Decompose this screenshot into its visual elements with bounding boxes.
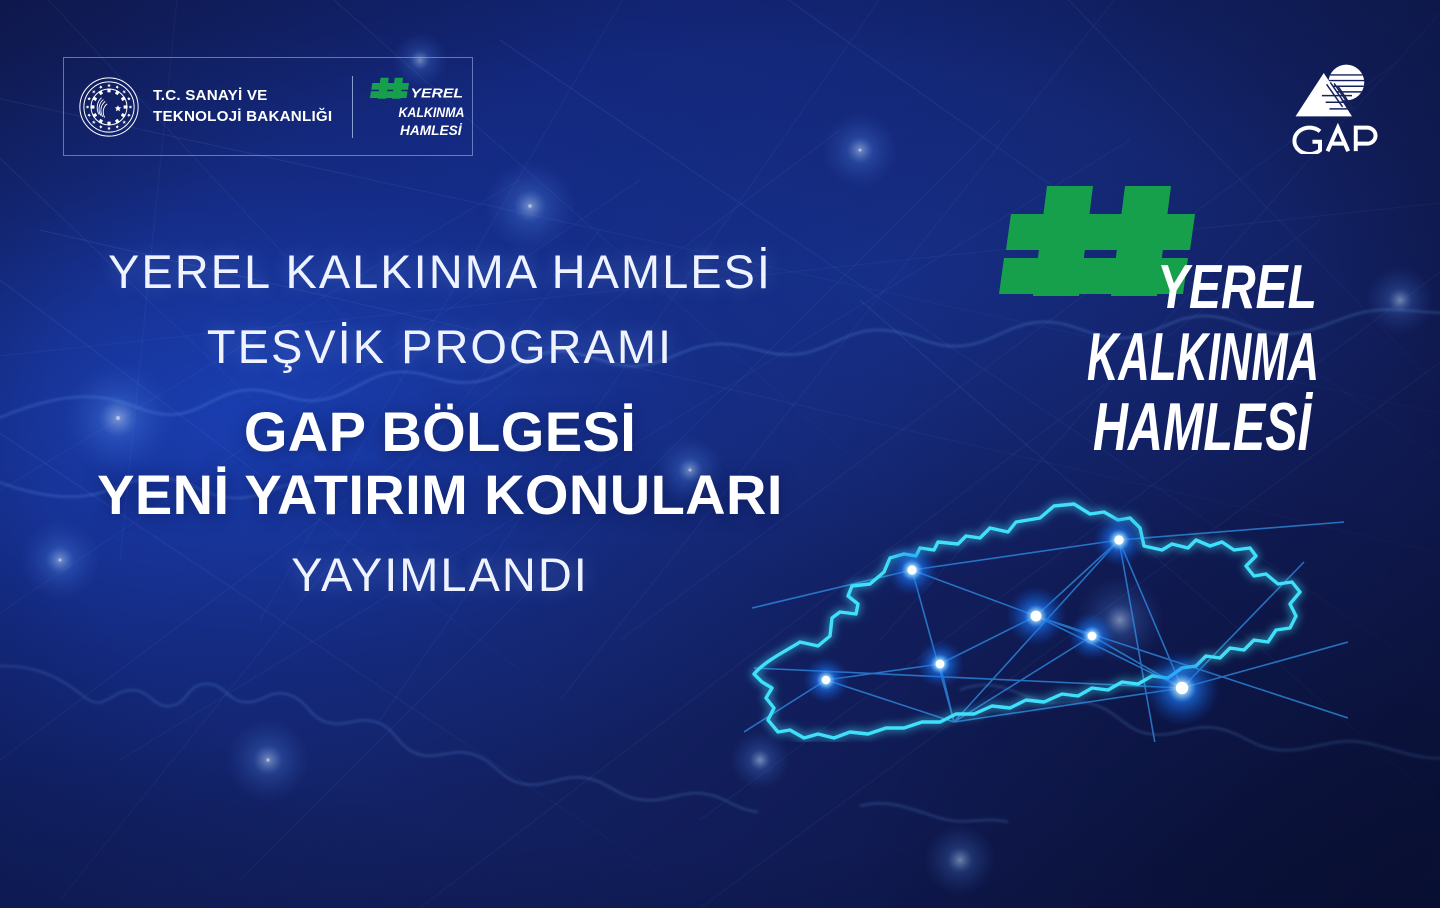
headline-line-2: TEŞVİK PROGRAMI (0, 323, 880, 370)
turkish-ministry-emblem (78, 76, 140, 138)
headline-line-1: YEREL KALKINMA HAMLESİ (0, 248, 880, 295)
gap-wordmark (1294, 128, 1375, 154)
campaign-small-line1: YEREL (411, 85, 464, 100)
campaign-logo-small: YEREL KALKINMA HAMLESİ (370, 70, 466, 144)
map-node (916, 640, 964, 688)
map-node (1068, 612, 1116, 660)
ministry-name-line1: T.C. SANAYİ VE (153, 86, 332, 106)
ministry-name-line2: TEKNOLOJİ BAKANLIĞI (153, 107, 332, 127)
ministry-name: T.C. SANAYİ VE TEKNOLOJİ BAKANLIĞI (153, 86, 332, 126)
campaign-large-line1: YEREL (1157, 253, 1317, 322)
emblem-fingerprint (97, 97, 107, 117)
campaign-large-line2: KALKINMA (1087, 319, 1319, 395)
hashtag-icon-small (370, 77, 409, 98)
campaign-logo-large: YEREL KALKINMA HAMLESİ (985, 168, 1325, 464)
campaign-small-line3: HAMLESİ (400, 121, 462, 138)
emblem-crescent (108, 98, 121, 114)
map-node (1144, 650, 1220, 726)
lockup-divider (352, 76, 353, 138)
campaign-small-line2: KALKINMA (399, 104, 465, 120)
headline-line-3: GAP BÖLGESİ (0, 400, 880, 463)
ministry-campaign-lockup: T.C. SANAYİ VE TEKNOLOJİ BAKANLIĞI YEREL… (63, 57, 473, 156)
poster-canvas: T.C. SANAYİ VE TEKNOLOJİ BAKANLIĞI YEREL… (0, 0, 1440, 908)
campaign-large-line3: HAMLESİ (1093, 389, 1313, 464)
ministry-logo: T.C. SANAYİ VE TEKNOLOJİ BAKANLIĞI (78, 76, 332, 138)
gap-logo (1284, 58, 1388, 154)
gap-region-map (744, 492, 1348, 742)
map-nodes (803, 514, 1220, 726)
map-node (1006, 586, 1066, 646)
map-node (886, 544, 938, 596)
campaign-logo-small-text: YEREL KALKINMA HAMLESİ (399, 85, 465, 139)
map-node (1093, 514, 1145, 566)
map-node (803, 657, 849, 703)
